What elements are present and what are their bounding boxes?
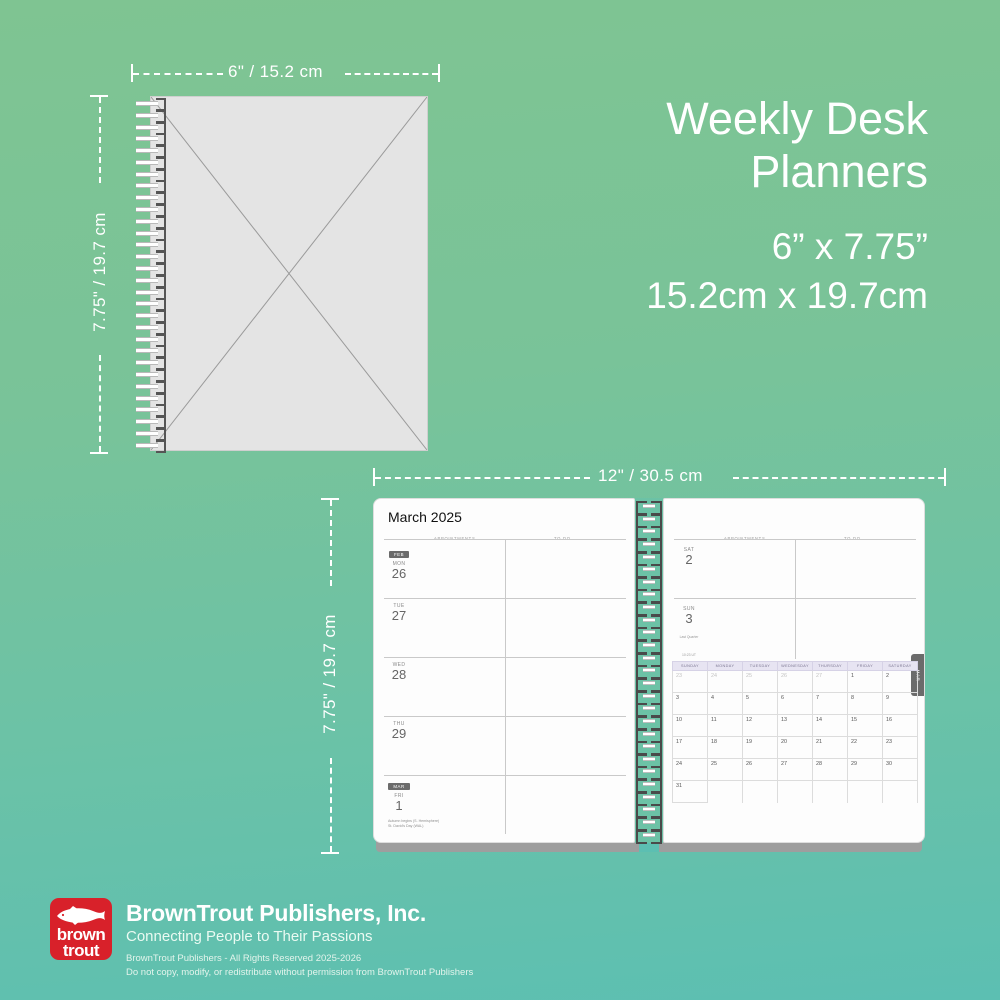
- day-label: MAR FRI 1: [386, 775, 412, 812]
- minical-day-cell[interactable]: 29: [848, 759, 883, 781]
- legal-notice: BrownTrout Publishers - All Rights Reser…: [126, 952, 473, 981]
- month-badge: FEB: [389, 551, 409, 558]
- width-cap-right: [438, 64, 440, 82]
- company-tagline: Connecting People to Their Passions: [126, 928, 473, 945]
- minical-weekday: SATURDAY: [883, 662, 918, 671]
- month-badge: MAR: [388, 783, 409, 790]
- minical-day-cell[interactable]: [743, 781, 778, 803]
- right-page-column-divider: [795, 539, 796, 659]
- minical-week-row: 3456789: [673, 693, 918, 715]
- cover-diagonal-lines: [151, 97, 427, 450]
- minical-weekday: THURSDAY: [813, 662, 848, 671]
- closed-height-label: 7.75" / 19.7 cm: [90, 164, 110, 380]
- open-height-cap-bottom: [321, 852, 339, 854]
- day-row-divider: [384, 598, 626, 599]
- minical-day-cell[interactable]: 13: [778, 715, 813, 737]
- footnote-line: St. David's Day (WAL): [388, 824, 439, 830]
- minical-day-cell[interactable]: 4: [708, 693, 743, 715]
- planner-cover: [150, 96, 428, 451]
- month-heading: March 2025: [388, 509, 634, 525]
- minical-day-cell[interactable]: 20: [778, 737, 813, 759]
- minical-day-cell[interactable]: 24: [673, 759, 708, 781]
- page-title-block: Weekly Desk Planners 6” x 7.75” 15.2cm x…: [646, 92, 928, 319]
- day-row-divider: [384, 657, 626, 658]
- minical-day-cell[interactable]: 1: [848, 671, 883, 693]
- minical-day-cell[interactable]: [883, 781, 918, 803]
- minical-day-cell[interactable]: 17: [673, 737, 708, 759]
- minical-day-cell[interactable]: 7: [813, 693, 848, 715]
- minical-day-cell[interactable]: 23: [673, 671, 708, 693]
- minical-day-cell[interactable]: 2: [883, 671, 918, 693]
- day-label: THU 29: [386, 721, 412, 740]
- minical-header-row: SUNDAY MONDAY TUESDAY WEDNESDAY THURSDAY…: [673, 662, 918, 671]
- minical-week-row: 31: [673, 781, 918, 803]
- day-row-divider: [674, 539, 916, 540]
- open-planner-spread: March 2025 APPOINTMENTS TO DO FEB MON 26…: [373, 498, 925, 850]
- minical-day-cell[interactable]: 5: [743, 693, 778, 715]
- minical-weekday: TUESDAY: [743, 662, 778, 671]
- mini-month-calendar: SUNDAY MONDAY TUESDAY WEDNESDAY THURSDAY…: [672, 661, 918, 803]
- minical-weekday: WEDNESDAY: [778, 662, 813, 671]
- minical-day-cell[interactable]: 23: [883, 737, 918, 759]
- open-width-dash-right: [733, 477, 944, 479]
- minical-day-cell[interactable]: [813, 781, 848, 803]
- minical-day-cell[interactable]: [848, 781, 883, 803]
- minical-day-cell[interactable]: 27: [813, 671, 848, 693]
- minical-day-cell[interactable]: 28: [813, 759, 848, 781]
- minical-day-cell[interactable]: 12: [743, 715, 778, 737]
- legal-line-1: BrownTrout Publishers - All Rights Reser…: [126, 952, 473, 966]
- minical-day-cell[interactable]: 26: [743, 759, 778, 781]
- minical-week-row: 17181920212223: [673, 737, 918, 759]
- minical-weekday: FRIDAY: [848, 662, 883, 671]
- open-width-label: 12" / 30.5 cm: [598, 466, 703, 486]
- height-cap-bottom: [90, 452, 108, 454]
- trout-fish-icon: [53, 903, 109, 927]
- open-height-label: 7.75" / 19.7 cm: [320, 566, 340, 782]
- minical-day-cell[interactable]: 30: [883, 759, 918, 781]
- day-number: 29: [386, 727, 412, 740]
- minical-day-cell[interactable]: 25: [708, 759, 743, 781]
- headline-line-1: Weekly Desk: [646, 92, 928, 145]
- minical-day-cell[interactable]: 31: [673, 781, 708, 803]
- minical-day-cell[interactable]: 3: [673, 693, 708, 715]
- spiral-binding-spine-icon: [635, 498, 663, 843]
- browntrout-logo: brown trout: [50, 898, 112, 960]
- day-number: 3: [676, 612, 702, 625]
- headline-line-2: Planners: [646, 145, 928, 198]
- minical-day-cell[interactable]: 9: [883, 693, 918, 715]
- day-label: SAT 2: [676, 547, 702, 566]
- minical-day-cell[interactable]: 24: [708, 671, 743, 693]
- minical-day-cell[interactable]: 18: [708, 737, 743, 759]
- closed-planner-mockup: [150, 96, 428, 451]
- day-number: 2: [676, 553, 702, 566]
- day-label: SUN 3 Last Quarter 10:23 UT: [676, 606, 702, 661]
- width-dash-left: [133, 73, 223, 75]
- day-label: FEB MON 26: [386, 543, 412, 580]
- planner-right-page: APPOINTMENTS TO DO SAT 2 SUN 3 Last Quar…: [663, 498, 925, 843]
- minical-day-cell[interactable]: 26: [778, 671, 813, 693]
- day-row-divider: [384, 775, 626, 776]
- moon-phase-note: Last Quarter 10:23 UT: [680, 635, 699, 657]
- open-width-dash-left: [375, 477, 590, 479]
- footer-text-block: BrownTrout Publishers, Inc. Connecting P…: [126, 898, 473, 981]
- minical-day-cell[interactable]: 15: [848, 715, 883, 737]
- planner-left-page: March 2025 APPOINTMENTS TO DO FEB MON 26…: [373, 498, 635, 843]
- holiday-footnotes: Autumn begins (S. Hemisphere) St. David'…: [388, 819, 439, 831]
- width-dash-right: [345, 73, 438, 75]
- day-label: WED 28: [386, 662, 412, 681]
- minical-day-cell[interactable]: 21: [813, 737, 848, 759]
- size-inches: 6” x 7.75”: [646, 224, 928, 271]
- spiral-binding-icon: [136, 96, 166, 451]
- open-width-cap-right: [944, 468, 946, 486]
- minical-day-cell[interactable]: 14: [813, 715, 848, 737]
- minical-day-cell[interactable]: 11: [708, 715, 743, 737]
- minical-day-cell[interactable]: 19: [743, 737, 778, 759]
- minical-week-row: 24252627282930: [673, 759, 918, 781]
- minical-day-cell[interactable]: [778, 781, 813, 803]
- day-row-divider: [384, 539, 626, 540]
- company-name: BrownTrout Publishers, Inc.: [126, 900, 473, 927]
- day-row-divider: [674, 598, 916, 599]
- minical-week-row: 232425262712: [673, 671, 918, 693]
- footer-branding: brown trout BrownTrout Publishers, Inc. …: [50, 898, 473, 981]
- logo-word-trout: trout: [50, 941, 112, 960]
- day-number: 27: [386, 609, 412, 622]
- day-row-divider: [384, 716, 626, 717]
- closed-width-label: 6" / 15.2 cm: [228, 62, 323, 82]
- minical-weekday: SUNDAY: [673, 662, 708, 671]
- legal-line-2: Do not copy, modify, or redistribute wit…: [126, 966, 473, 980]
- minical-day-cell[interactable]: 27: [778, 759, 813, 781]
- size-centimeters: 15.2cm x 19.7cm: [646, 273, 928, 320]
- minical-day-cell[interactable]: 10: [673, 715, 708, 737]
- day-number: 26: [386, 567, 412, 580]
- day-number: 1: [386, 799, 412, 812]
- minical-day-cell[interactable]: 6: [778, 693, 813, 715]
- left-page-column-divider: [505, 539, 506, 834]
- minical-week-row: 10111213141516: [673, 715, 918, 737]
- day-number: 28: [386, 668, 412, 681]
- minical-day-cell[interactable]: 22: [848, 737, 883, 759]
- minical-day-cell[interactable]: 8: [848, 693, 883, 715]
- minical-day-cell[interactable]: 25: [743, 671, 778, 693]
- minical-weekday: MONDAY: [708, 662, 743, 671]
- minical-day-cell[interactable]: 16: [883, 715, 918, 737]
- minical-day-cell[interactable]: [708, 781, 743, 803]
- day-label: TUE 27: [386, 603, 412, 622]
- minical-body: 2324252627123456789101112131415161718192…: [673, 671, 918, 803]
